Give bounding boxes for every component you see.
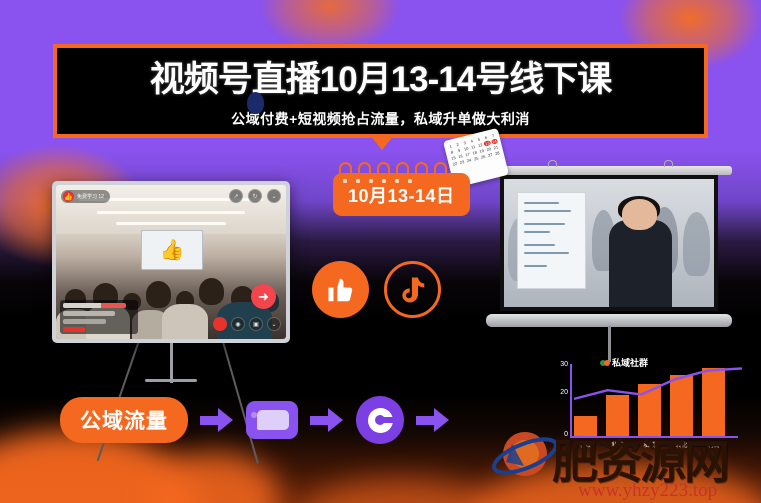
instructor-body: [609, 220, 672, 307]
badge-dot: [382, 179, 386, 183]
next-arrow-button[interactable]: ➜: [251, 284, 276, 309]
calendar-day: 24: [465, 157, 472, 163]
public-traffic-pill[interactable]: 公域流量: [60, 397, 188, 443]
live-room-bubble: [257, 410, 289, 430]
camera-icon[interactable]: ▣: [249, 317, 263, 331]
page-subtitle: 公域付费+短视频抢占流量，私域升单做大利消: [57, 109, 704, 129]
instructor-head: [622, 199, 658, 230]
calendar-day: 28: [494, 150, 501, 156]
banner-notch: [369, 134, 395, 150]
badge-dot: [369, 179, 373, 183]
page-title: 视频号直播10月13-14号线下课: [57, 62, 704, 97]
date-badge: 10月13-14日: [333, 173, 470, 216]
tv-base: [145, 379, 197, 382]
screen-canvas: [500, 175, 718, 311]
live-channel-tag[interactable]: 👍 免费学习 12: [61, 190, 110, 203]
calendar-day: 23: [458, 159, 465, 165]
badge-dot: [395, 179, 399, 183]
conversion-donut-icon[interactable]: [356, 396, 404, 444]
watermark: 肥资源网 www.yhzy223.top: [492, 424, 758, 500]
stream-top-controls: ↗ ↻ ⌄: [229, 189, 281, 203]
funnel-flow-row: 公域流量: [60, 396, 450, 444]
calendar-day: 26: [480, 154, 487, 160]
arrow-right-icon: [416, 407, 450, 433]
gift-icon[interactable]: ◉: [231, 317, 245, 331]
live-chat-overlay: [60, 300, 138, 334]
watermark-url: www.yhzy223.top: [578, 480, 717, 502]
more-icon[interactable]: ⌄: [267, 317, 281, 331]
screen-hook-left: [548, 160, 557, 167]
badge-dot: [343, 179, 347, 183]
heart-icon[interactable]: [213, 317, 227, 331]
promo-poster: 视频号直播10月13-14号线下课 公域付费+短视频抢占流量，私域升单做大利消 …: [0, 0, 761, 503]
calendar-day: 22: [451, 161, 458, 167]
channel-name: 免费学习 12: [77, 193, 104, 200]
thumbs-up-icon: 👍: [63, 191, 74, 202]
y-tick-30: 30: [548, 361, 568, 368]
center-icon-group: [312, 261, 441, 318]
chevron-down-icon[interactable]: ⌄: [267, 189, 281, 203]
donut-ring: [368, 408, 393, 433]
header-banner: 视频号直播10月13-14号线下课 公域付费+短视频抢占流量，私域升单做大利消: [53, 44, 708, 138]
date-badge-label: 10月13-14日: [348, 186, 455, 206]
badge-dot: [408, 179, 412, 183]
video-channel-note-icon[interactable]: [384, 261, 441, 318]
badge-punch-dots: [343, 179, 412, 183]
calendar-day: 25: [472, 155, 479, 161]
screen-top-bar: [486, 166, 732, 175]
glow-blob-bottom-center: [300, 478, 500, 503]
donut-gap: [384, 417, 394, 423]
badge-dot: [356, 179, 360, 183]
cursor-dot: [247, 92, 264, 114]
thumbs-up-icon[interactable]: [312, 261, 369, 318]
stream-bottom-controls: ◉ ▣ ⌄: [213, 317, 281, 331]
share-icon[interactable]: ↗: [229, 189, 243, 203]
y-tick-20: 20: [548, 389, 568, 396]
tv-screen: 👍 👍 免费学习 12: [56, 185, 286, 339]
arrow-right-icon: [200, 407, 234, 433]
flipchart: [517, 192, 586, 289]
screen-hook-right: [664, 160, 673, 167]
arrow-right-icon: [310, 407, 344, 433]
live-room-icon[interactable]: [246, 401, 298, 439]
calendar-day: 27: [487, 152, 494, 158]
tv-stand: [170, 343, 173, 383]
projector-screen: [492, 166, 726, 334]
glow-blob-bottom-mid: [150, 452, 280, 503]
refresh-icon[interactable]: ↻: [248, 189, 262, 203]
date-badge-group: 10月13-14日: [333, 173, 470, 216]
live-stream-tv: 👍 👍 免费学习 12: [52, 181, 290, 343]
